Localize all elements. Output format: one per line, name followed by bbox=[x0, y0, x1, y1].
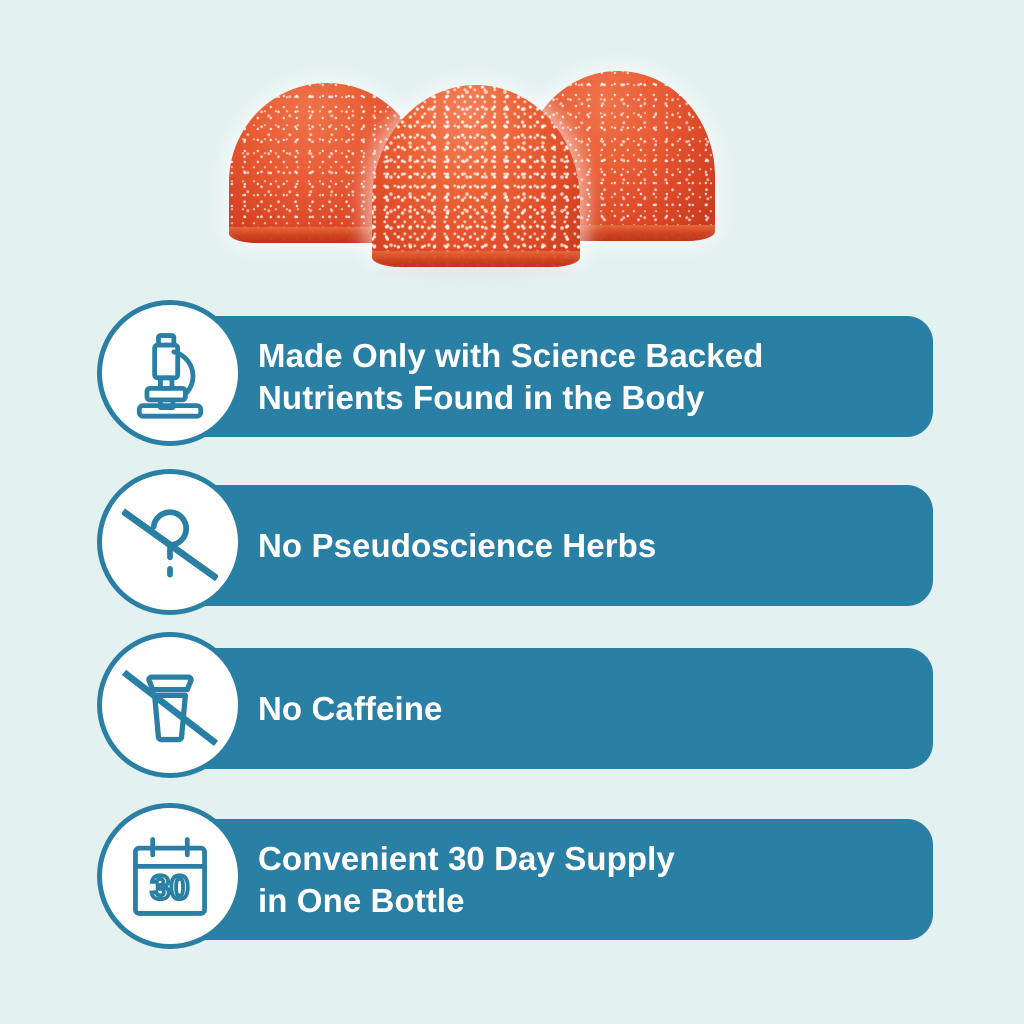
feature-icon-badge bbox=[97, 300, 243, 446]
feature-text-line: Made Only with Science Backed bbox=[258, 335, 918, 377]
feature-icon-badge: 30 bbox=[97, 803, 243, 949]
feature-text-line: No Pseudoscience Herbs bbox=[258, 525, 918, 567]
feature-icon-badge bbox=[97, 469, 243, 615]
microscope-icon bbox=[122, 325, 218, 421]
calendar-day-number: 30 bbox=[151, 869, 189, 907]
coffee-cup-icon bbox=[122, 657, 218, 753]
feature-row-no-pseudoscience-herbs: No Pseudoscience Herbs bbox=[97, 469, 933, 615]
feature-text: Convenient 30 Day Supply in One Bottle bbox=[258, 819, 918, 940]
gummy-center-base bbox=[372, 251, 580, 267]
feature-text: No Pseudoscience Herbs bbox=[258, 485, 918, 606]
gummy-group bbox=[225, 55, 745, 290]
feature-text-line: Convenient 30 Day Supply bbox=[258, 838, 918, 880]
calendar-30-icon: 30 bbox=[122, 828, 218, 924]
prohibition-slash bbox=[124, 672, 216, 743]
product-benefits-infographic: Made Only with Science Backed Nutrients … bbox=[0, 0, 1024, 1024]
feature-text-line: in One Bottle bbox=[258, 880, 918, 922]
feature-row-science-backed: Made Only with Science Backed Nutrients … bbox=[97, 300, 933, 446]
feature-text-line: No Caffeine bbox=[258, 688, 918, 730]
feature-icon-badge bbox=[97, 632, 243, 778]
question-mark-icon bbox=[122, 494, 218, 590]
feature-text: No Caffeine bbox=[258, 648, 918, 769]
hero-product-image bbox=[0, 0, 1024, 300]
feature-row-30-day-supply: 30 Convenient 30 Day Supply in One Bottl… bbox=[97, 803, 933, 949]
feature-text-line: Nutrients Found in the Body bbox=[258, 377, 918, 419]
feature-text: Made Only with Science Backed Nutrients … bbox=[258, 316, 918, 437]
feature-row-no-caffeine: No Caffeine bbox=[97, 632, 933, 778]
